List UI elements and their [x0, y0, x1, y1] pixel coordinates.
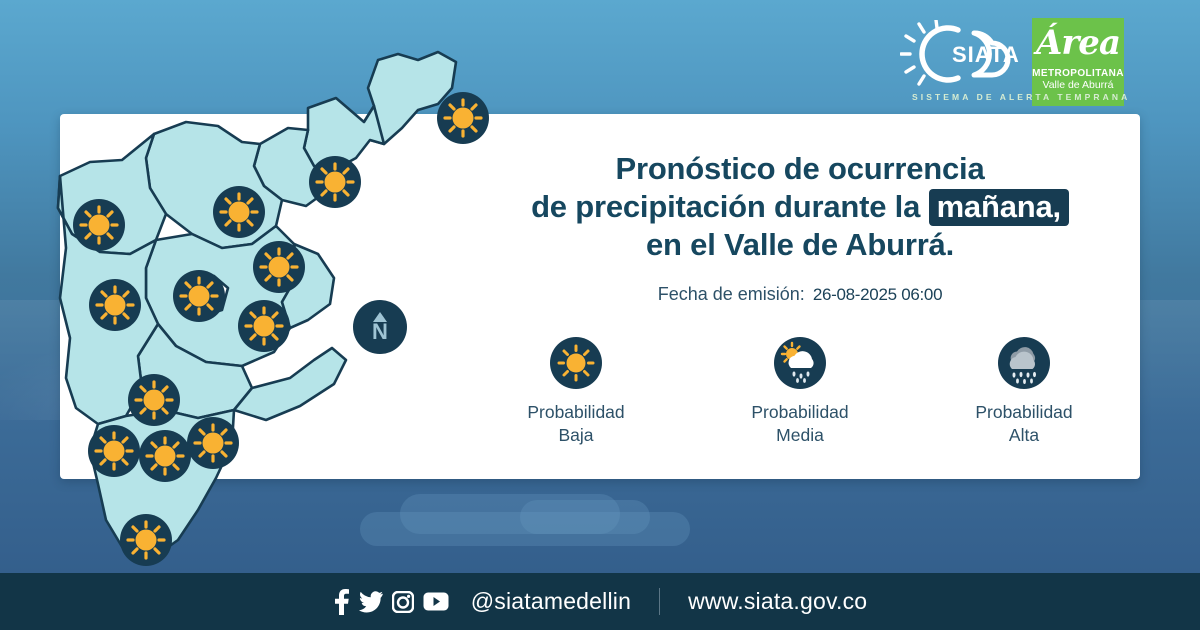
sun-rain-cloud-icon — [774, 337, 826, 389]
title-line-1: Pronóstico de ocurrencia — [470, 150, 1130, 188]
brand-tagline: SISTEMA DE ALERTA TEMPRANA — [912, 92, 1128, 102]
emission-date-label: Fecha de emisión: — [658, 284, 805, 305]
title-line-3: en el Valle de Aburrá. — [470, 226, 1130, 264]
social-handle[interactable]: @siatamedellin — [471, 588, 631, 615]
probability-legend: Probabilidad Baja — [470, 337, 1130, 447]
map-marker-sun[interactable] — [73, 199, 125, 251]
website-url[interactable]: www.siata.gov.co — [688, 588, 867, 615]
legend-label-media: Probabilidad Media — [732, 401, 868, 447]
area-logo-script: Área — [1032, 18, 1124, 68]
legend-label-line1: Probabilidad — [508, 401, 644, 424]
map-marker-sun[interactable] — [437, 92, 489, 144]
instagram-icon[interactable] — [392, 591, 414, 613]
compass-label: N — [372, 322, 388, 342]
legend-label-alta: Probabilidad Alta — [956, 401, 1092, 447]
rain-cloud-icon — [998, 337, 1050, 389]
map-marker-sun[interactable] — [213, 186, 265, 238]
legend-item-baja: Probabilidad Baja — [508, 337, 644, 447]
title-line-2: de precipitación durante la mañana, — [470, 188, 1130, 226]
map-marker-sun[interactable] — [128, 374, 180, 426]
legend-item-alta: Probabilidad Alta — [956, 337, 1092, 447]
emission-date-value: 26-08-2025 06:00 — [813, 285, 942, 305]
siata-logo: SIATA — [900, 20, 1028, 88]
map-svg — [46, 48, 466, 568]
legend-item-media: Probabilidad Media — [732, 337, 868, 447]
legend-label-line2: Media — [732, 424, 868, 447]
legend-label-line2: Baja — [508, 424, 644, 447]
youtube-icon[interactable] — [423, 592, 449, 611]
page-title: Pronóstico de ocurrencia de precipitació… — [470, 150, 1130, 264]
area-logo-line2: Valle de Aburrá — [1032, 79, 1124, 91]
footer-bar: @siatamedellin www.siata.gov.co — [0, 573, 1200, 630]
sun-icon — [550, 337, 602, 389]
area-logo-line1: METROPOLITANA — [1032, 68, 1124, 79]
forecast-panel: Pronóstico de ocurrencia de precipitació… — [470, 150, 1130, 447]
footer-divider — [659, 588, 660, 615]
infographic-root: SIATA Área METROPOLITANA Valle de Aburrá… — [0, 0, 1200, 630]
compass-north-icon: N — [353, 300, 407, 354]
title-line-2-text: de precipitación durante la — [531, 189, 920, 224]
map-marker-sun[interactable] — [89, 279, 141, 331]
valle-de-aburra-map: N — [46, 48, 466, 568]
legend-label-baja: Probabilidad Baja — [508, 401, 644, 447]
map-marker-sun[interactable] — [120, 514, 172, 566]
twitter-icon[interactable] — [359, 591, 383, 613]
social-links — [333, 589, 449, 615]
svg-text:SIATA: SIATA — [952, 42, 1020, 67]
legend-label-line2: Alta — [956, 424, 1092, 447]
legend-label-line1: Probabilidad — [956, 401, 1092, 424]
emission-date: Fecha de emisión: 26-08-2025 06:00 — [470, 284, 1130, 305]
map-marker-sun[interactable] — [238, 300, 290, 352]
map-marker-sun[interactable] — [187, 417, 239, 469]
title-highlight-period: mañana, — [929, 189, 1069, 226]
map-marker-sun[interactable] — [88, 425, 140, 477]
map-marker-sun[interactable] — [173, 270, 225, 322]
map-marker-sun[interactable] — [253, 241, 305, 293]
brand-logos: SIATA Área METROPOLITANA Valle de Aburrá… — [900, 18, 1130, 110]
municipality-bello — [146, 122, 282, 248]
legend-label-line1: Probabilidad — [732, 401, 868, 424]
map-marker-sun[interactable] — [139, 430, 191, 482]
map-marker-sun[interactable] — [309, 156, 361, 208]
facebook-icon[interactable] — [333, 589, 350, 615]
